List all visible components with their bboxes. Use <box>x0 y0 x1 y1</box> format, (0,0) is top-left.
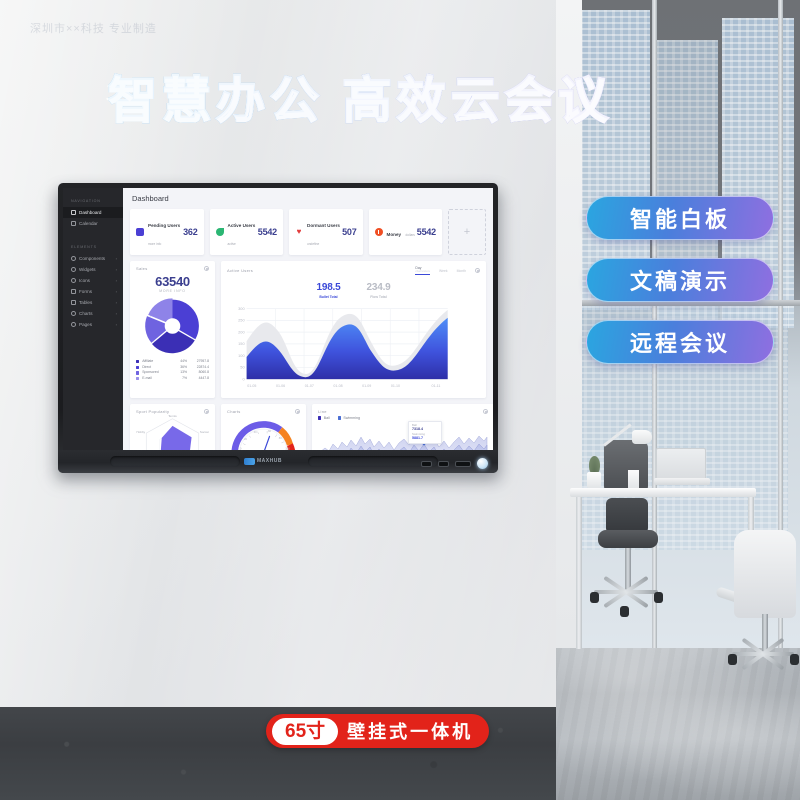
gauge-chart: 02040 6080100 <box>227 416 300 450</box>
svg-text:300: 300 <box>238 306 245 311</box>
sport-popularity-card: Sport Popularity Tennis Soccer <box>130 404 215 450</box>
svg-text:01-07: 01-07 <box>305 384 314 388</box>
active-users-card: Active Users Day chart/visitors Week Mon… <box>221 261 486 398</box>
legend-swatch <box>338 416 341 419</box>
poster-stage: 深圳市××科技 专业制造 智慧办公 高效云会议 智慧办公 高效云会议 智能白板 … <box>0 0 800 800</box>
stat-card-value: 362 <box>183 227 197 237</box>
stat-card-value: 5542 <box>258 227 277 237</box>
coin-icon <box>375 228 383 236</box>
office-floor <box>556 648 800 800</box>
forms-icon <box>71 289 76 294</box>
sidebar-item-label: Pages <box>79 322 92 327</box>
sales-donut-chart <box>136 296 209 356</box>
office-chair-white <box>734 530 796 618</box>
sales-legend: Affiliate 44% 27957.8 Direct 36% 22874.4 <box>136 359 209 381</box>
laptop-base <box>654 478 710 485</box>
stat-card-row: Pending Users more info 362 Active Users… <box>130 209 486 255</box>
sidebar-item-label: Dashboard <box>79 210 101 215</box>
chart-tooltip: Ball 7318.4 Swimming 5881.7 <box>408 421 442 444</box>
sidebar-item-pages[interactable]: Pages › <box>63 319 123 330</box>
power-button[interactable] <box>477 458 488 469</box>
card-header: Sales <box>136 266 209 271</box>
brand-name: MAXHUB <box>257 459 282 464</box>
card-header: Active Users Day chart/visitors Week Mon… <box>227 266 480 275</box>
gear-icon[interactable] <box>475 268 480 273</box>
add-widget-button[interactable]: + <box>448 209 486 255</box>
card-title: Line <box>318 409 327 414</box>
leaf-icon <box>216 228 224 236</box>
dashboard-app: NAVIGATION Dashboard Calendar ELEMENTS <box>63 188 493 450</box>
pen-cup <box>628 470 639 488</box>
svg-text:150: 150 <box>238 341 245 346</box>
page-title: Dashboard <box>132 194 486 203</box>
line-area-chart <box>318 422 488 450</box>
page-headline: 智慧办公 高效云会议 <box>108 70 698 132</box>
svg-text:50: 50 <box>240 365 245 370</box>
svg-text:20: 20 <box>244 437 248 441</box>
sidebar-item-label: Charts <box>79 311 93 316</box>
gear-icon[interactable] <box>295 409 300 414</box>
legend-row: E-mail 7% 4447.8 <box>136 376 209 382</box>
svg-text:40: 40 <box>254 430 258 434</box>
sidebar-item-label: Tables <box>79 300 92 305</box>
legend-item-ball: Ball <box>318 416 330 420</box>
tab-day[interactable]: Day chart/visitors <box>415 266 430 275</box>
size-badge-inch: 65寸 <box>272 718 338 745</box>
usb-port-icon[interactable] <box>438 461 449 467</box>
sidebar-item-forms[interactable]: Forms › <box>63 286 123 297</box>
icons-icon <box>71 278 76 283</box>
tooltip-value: 5881.7 <box>412 436 438 440</box>
legend-swatch <box>136 360 139 363</box>
sidebar-item-label: Forms <box>79 289 92 294</box>
svg-text:01-08: 01-08 <box>333 384 342 388</box>
stat-card-label: Money <box>387 232 402 237</box>
gear-icon[interactable] <box>204 409 209 414</box>
middle-card-row: Sales 63540 MORE INFO <box>130 261 486 398</box>
svg-text:01-09: 01-09 <box>362 384 371 388</box>
svg-text:01-06: 01-06 <box>276 384 285 388</box>
chevron-right-icon: › <box>116 300 117 305</box>
display-bezel: NAVIGATION Dashboard Calendar ELEMENTS <box>58 183 498 473</box>
tables-icon <box>71 300 76 305</box>
tab-sub: chart/visitors <box>415 270 430 273</box>
sidebar-item-components[interactable]: Components › <box>63 253 123 264</box>
active-users-area-chart: 300250200 15010050 0 01-0501-0601-07 01-… <box>227 300 449 393</box>
stat-card-text: Pending Users more info <box>148 214 183 250</box>
svg-text:01-10: 01-10 <box>391 384 400 388</box>
chevron-right-icon: › <box>116 322 117 327</box>
watermark: 深圳市××科技 专业制造 <box>30 22 157 36</box>
gauge-card: Charts <box>221 404 306 450</box>
legend-swatch <box>136 377 139 380</box>
svg-text:01-05: 01-05 <box>247 384 256 388</box>
stat-card-text: Money dollars <box>387 223 417 241</box>
gear-icon[interactable] <box>204 266 209 271</box>
chair-caster <box>590 592 599 603</box>
port-cluster <box>421 458 488 469</box>
display-chin: MAXHUB <box>58 450 498 473</box>
stat-card-label: Active Users <box>228 223 256 228</box>
laptop <box>656 448 706 480</box>
chair-caster <box>728 654 737 665</box>
sales-subtitle: MORE INFO <box>136 289 209 293</box>
desk-leg <box>576 497 582 649</box>
brand-mark-icon <box>244 458 255 465</box>
svg-text:60: 60 <box>268 429 272 433</box>
legend-swatch <box>136 366 139 369</box>
chevron-right-icon: › <box>116 278 117 283</box>
sidebar-item-charts[interactable]: Charts › <box>63 308 123 319</box>
svg-text:80: 80 <box>279 436 283 440</box>
legend-amount: 4447.8 <box>187 376 209 382</box>
usb-port-icon[interactable] <box>421 461 432 467</box>
sidebar: NAVIGATION Dashboard Calendar ELEMENTS <box>63 188 123 450</box>
sidebar-item-icons[interactable]: Icons › <box>63 275 123 286</box>
speaker-grille-right <box>308 456 438 467</box>
sidebar-item-label: Components <box>79 256 105 261</box>
home-icon <box>71 210 76 215</box>
calendar-icon <box>71 221 76 226</box>
stat-card-text: Active Users active <box>228 214 258 250</box>
office-chair-dark-seat <box>598 530 658 548</box>
chair-caster <box>620 606 629 617</box>
card-title: Sales <box>136 266 148 271</box>
sidebar-section-elements: ELEMENTS <box>63 241 123 253</box>
sidebar-item-tables[interactable]: Tables › <box>63 297 123 308</box>
feature-pill-presentation[interactable]: 文稿演示 <box>586 258 774 302</box>
total-flow: 234.9 Flow Total <box>367 277 391 299</box>
stat-card-sub: dollars <box>406 233 415 237</box>
tab-week[interactable]: Week <box>439 269 448 273</box>
total-value: 198.5 <box>316 282 340 293</box>
pages-icon <box>71 322 76 327</box>
square-icon <box>136 228 144 236</box>
desk <box>570 488 756 497</box>
stat-card-dormant-users[interactable]: ♥ Dormant Users undefine 507 <box>289 209 363 255</box>
active-users-totals: 198.5 Bullet Total 234.9 Flow Total <box>227 277 480 299</box>
sport-popularity-radar-chart: Tennis Soccer Hockey Basketball Golf Hob… <box>136 414 209 450</box>
stat-card-label: Dormant Users <box>307 223 340 228</box>
svg-text:200: 200 <box>238 329 245 334</box>
stat-card-value: 507 <box>342 227 356 237</box>
svg-text:Tennis: Tennis <box>168 414 177 418</box>
chevron-right-icon: › <box>116 311 117 316</box>
stat-card-sub: undefine <box>307 242 319 246</box>
card-title: Sport Popularity <box>136 409 169 414</box>
legend-label: Ball <box>324 416 330 420</box>
stat-card-sub: active <box>228 242 236 246</box>
widgets-icon <box>71 267 76 272</box>
sidebar-item-calendar[interactable]: Calendar <box>63 218 123 229</box>
total-label: Bullet Total <box>316 295 340 299</box>
sidebar-item-label: Icons <box>79 278 90 283</box>
line-legend: Ball Swimming <box>318 416 488 420</box>
heart-icon: ♥ <box>295 228 303 236</box>
stat-card-active-users[interactable]: Active Users active 5542 <box>210 209 284 255</box>
legend-label: Swimming <box>343 416 360 420</box>
brand-logo: MAXHUB <box>244 458 282 465</box>
tab-month[interactable]: Month <box>457 269 466 273</box>
display-screen: NAVIGATION Dashboard Calendar ELEMENTS <box>63 188 493 450</box>
speaker-grille-left <box>110 456 240 467</box>
chair-caster <box>654 592 663 603</box>
stat-card-value: 5542 <box>417 227 436 237</box>
sidebar-section-navigation: NAVIGATION <box>63 195 123 207</box>
chevron-right-icon: › <box>116 289 117 294</box>
card-header: Charts <box>227 409 300 414</box>
sidebar-item-label: Calendar <box>79 221 98 226</box>
svg-text:01-11: 01-11 <box>431 384 440 388</box>
sidebar-item-label: Widgets <box>79 267 96 272</box>
size-badge: 65寸 壁挂式一体机 <box>266 714 489 748</box>
total-value: 234.9 <box>367 282 391 293</box>
stat-card-pending-users[interactable]: Pending Users more info 362 <box>130 209 204 255</box>
office-chair-dark <box>604 440 648 494</box>
hdmi-port-icon[interactable] <box>455 461 471 467</box>
charts-icon <box>71 311 76 316</box>
stat-card-money[interactable]: Money dollars 5542 <box>369 209 443 255</box>
sales-card: Sales 63540 MORE INFO <box>130 261 215 398</box>
feature-pill-whiteboard[interactable]: 智能白板 <box>586 196 774 240</box>
card-title: Active Users <box>227 268 253 273</box>
legend-swatch <box>318 416 321 419</box>
legend-item-swimming: Swimming <box>338 416 360 420</box>
sidebar-item-dashboard[interactable]: Dashboard <box>63 207 123 218</box>
legend-swatch <box>136 371 139 374</box>
feature-pill-list: 智能白板 文稿演示 远程会议 <box>586 196 782 382</box>
desk-lamp-head <box>632 430 652 444</box>
total-bullet: 198.5 Bullet Total <box>316 277 340 299</box>
total-label: Flow Total <box>367 295 391 299</box>
interactive-display: NAVIGATION Dashboard Calendar ELEMENTS <box>58 183 498 473</box>
sidebar-spacer <box>63 229 123 241</box>
svg-text:Hobby: Hobby <box>136 430 145 434</box>
dashboard-content: Dashboard Pending Users more info 362 <box>123 188 493 450</box>
sales-total: 63540 <box>136 274 209 289</box>
card-header: Line <box>318 409 488 414</box>
bottom-card-row: Sport Popularity Tennis Soccer <box>130 404 486 450</box>
svg-text:Soccer: Soccer <box>200 430 209 434</box>
legend-label: E-mail <box>142 376 171 382</box>
svg-text:100: 100 <box>238 353 245 358</box>
stat-card-sub: more info <box>148 242 161 246</box>
feature-pill-remote-meeting[interactable]: 远程会议 <box>586 320 774 364</box>
chevron-right-icon: › <box>116 256 117 261</box>
card-header-tools: Day chart/visitors Week Month <box>415 266 480 275</box>
sidebar-item-widgets[interactable]: Widgets › <box>63 264 123 275</box>
size-badge-desc: 壁挂式一体机 <box>347 718 473 744</box>
svg-text:0: 0 <box>242 376 245 381</box>
chair-caster <box>790 654 799 665</box>
svg-text:250: 250 <box>238 318 245 323</box>
components-icon <box>71 256 76 261</box>
chevron-right-icon: › <box>116 267 117 272</box>
stat-card-text: Dormant Users undefine <box>307 214 342 250</box>
office-chair-dark-mesh <box>606 498 648 534</box>
stat-card-label: Pending Users <box>148 223 180 228</box>
legend-percent: 7% <box>171 376 187 382</box>
card-title: Charts <box>227 409 241 414</box>
gear-icon[interactable] <box>483 409 488 414</box>
line-card: Line Ball <box>312 404 493 450</box>
plant-pot <box>587 472 601 488</box>
